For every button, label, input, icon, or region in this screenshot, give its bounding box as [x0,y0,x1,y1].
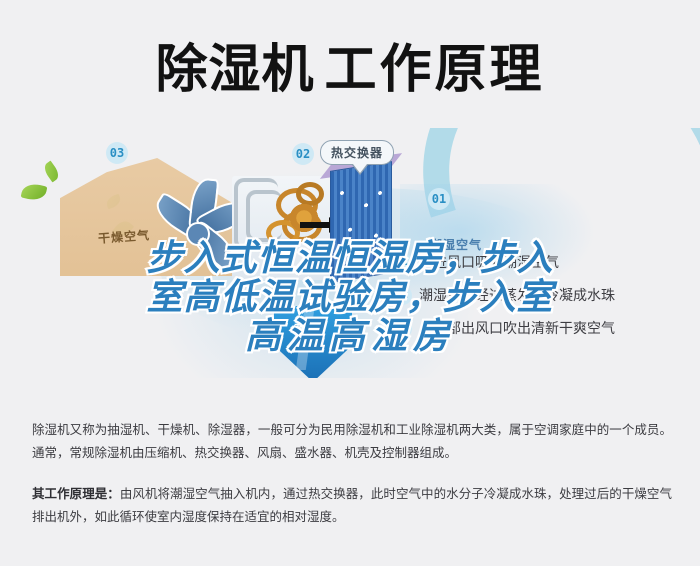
legend-badge-03: 03 [393,319,412,338]
diagram-badge-02: 02 [292,143,314,165]
dry-air-label: 干燥空气 [97,226,150,247]
step-legend: 01 由进风口吸入潮湿空气 02 潮湿空气经过蒸发器冷凝成水珠 03 从上部出风… [393,252,693,351]
article-body: 除湿机又称为抽湿机、干燥机、除湿器，一般可分为民用除湿机和工业除湿机两大类，属于… [32,418,672,529]
humid-air-label: 潮湿空气 [430,236,482,253]
heat-exchanger-callout: 热交换器 [320,140,394,165]
page-root: 除湿机工作原理 干燥空气 [0,0,700,566]
paragraph-1: 除湿机又称为抽湿机、干燥机、除湿器，一般可分为民用除湿机和工业除湿机两大类，属于… [32,418,672,464]
legend-item: 02 潮湿空气经过蒸发器冷凝成水珠 [393,285,693,305]
water-tank-label: 水箱 [294,318,320,335]
title-part-1: 除湿机 [155,40,314,100]
leaf-icon [21,182,48,203]
legend-text-01: 由进风口吸入潮湿空气 [419,252,559,272]
legend-item: 03 从上部出风口吹出清新干爽空气 [393,318,693,338]
page-title: 除湿机工作原理 [0,0,700,128]
paragraph-2: 其工作原理是：由风机将潮湿空气抽入机内，通过热交换器，此时空气中的水分子冷凝成水… [32,482,672,528]
diagram-badge-01: 01 [428,188,450,210]
legend-badge-02: 02 [393,286,412,305]
paragraph-2-lead: 其工作原理是： [32,486,120,501]
airflow-arrow-icon [300,222,330,228]
dehumidifier-diagram: 干燥空气 水箱 潮湿空气 03 02 01 [0,128,700,378]
legend-text-02: 潮湿空气经过蒸发器冷凝成水珠 [419,285,615,305]
legend-item: 01 由进风口吸入潮湿空气 [393,252,693,272]
title-part-2: 工作原理 [325,40,545,100]
paragraph-2-rest: 由风机将潮湿空气抽入机内，通过热交换器，此时空气中的水分子冷凝成水珠，处理过后的… [32,486,672,524]
title-text: 除湿机工作原理 [155,27,544,102]
legend-badge-01: 01 [393,253,412,272]
legend-text-03: 从上部出风口吹出清新干爽空气 [419,318,615,338]
leaf-icon [42,161,62,183]
copper-fan-icon [286,200,322,236]
diagram-badge-03: 03 [106,142,128,164]
condensation-droplets-icon [332,171,390,278]
fan-hub-icon [186,222,210,246]
